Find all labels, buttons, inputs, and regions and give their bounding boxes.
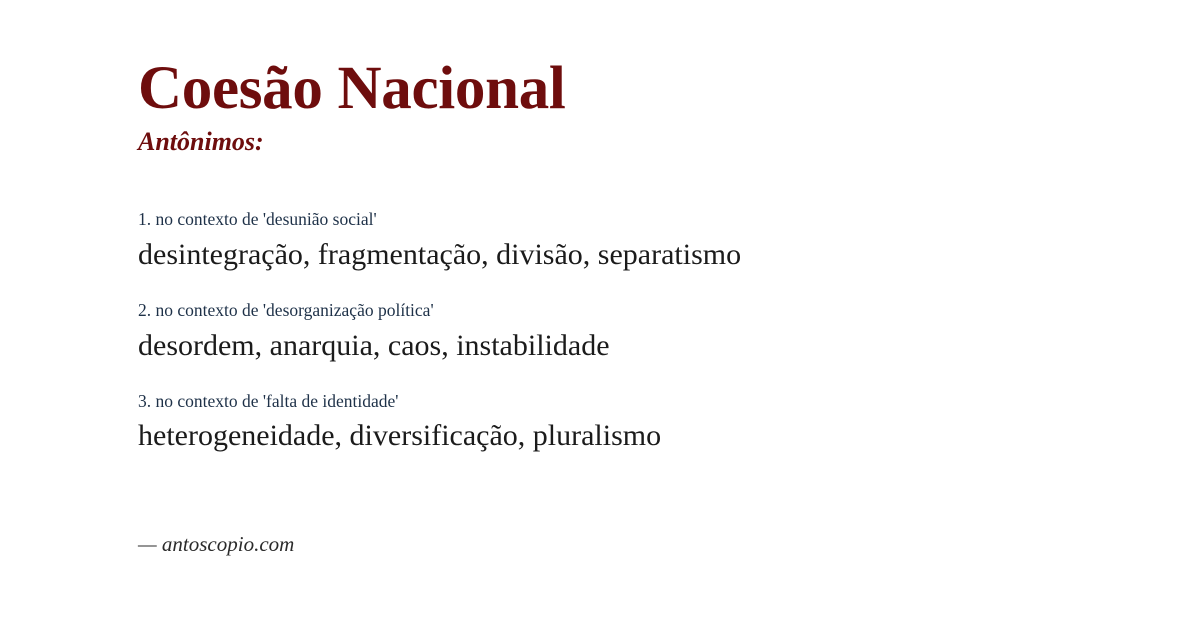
- sense-antonyms: desintegração, fragmentação, divisão, se…: [138, 235, 1200, 274]
- footer: — antoscopio.com: [138, 532, 294, 557]
- sense-block: 3. no contexto de 'falta de identidade' …: [138, 391, 1200, 456]
- section-label-antonyms: Antônimos:: [138, 128, 1200, 157]
- sense-context-label: 3. no contexto de 'falta de identidade': [138, 391, 1200, 413]
- sense-context-label: 2. no contexto de 'desorganização políti…: [138, 300, 1200, 322]
- source-attribution: — antoscopio.com: [138, 532, 294, 557]
- sense-antonyms: desordem, anarquia, caos, instabilidade: [138, 326, 1200, 365]
- sense-block: 2. no contexto de 'desorganização políti…: [138, 300, 1200, 365]
- sense-context-label: 1. no contexto de 'desunião social': [138, 209, 1200, 231]
- sense-list: 1. no contexto de 'desunião social' desi…: [138, 209, 1200, 456]
- sense-block: 1. no contexto de 'desunião social' desi…: [138, 209, 1200, 274]
- antonyms-card: Coesão Nacional Antônimos: 1. no context…: [0, 0, 1200, 628]
- header: Coesão Nacional Antônimos:: [138, 0, 1200, 157]
- sense-antonyms: heterogeneidade, diversificação, plurali…: [138, 416, 1200, 455]
- page-title: Coesão Nacional: [138, 58, 1200, 120]
